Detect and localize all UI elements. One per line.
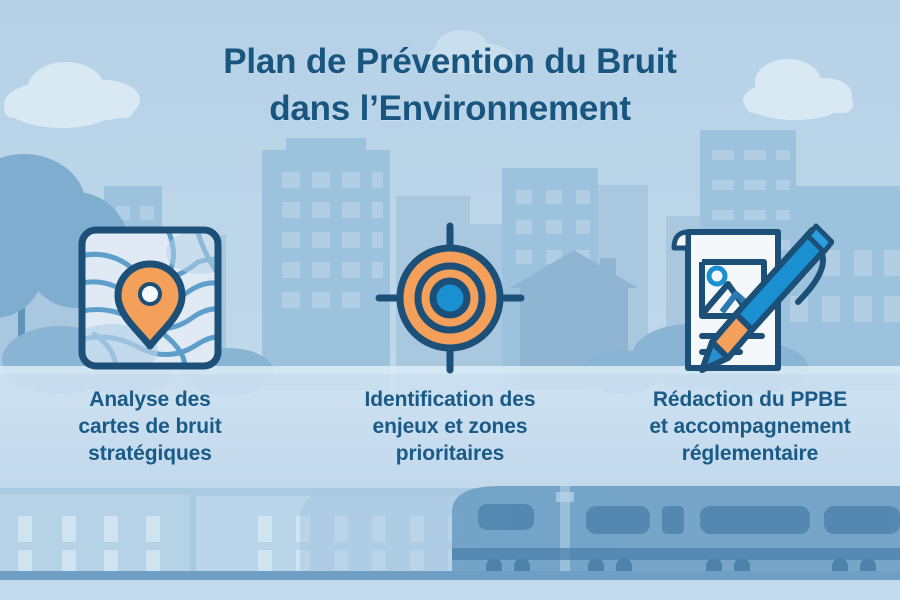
rail-line bbox=[0, 571, 900, 580]
caption-step-1: Analyse des cartes de bruit stratégiques bbox=[0, 386, 300, 496]
caption-line: stratégiques bbox=[8, 440, 292, 467]
infographic-poster: Plan de Prévention du Bruit dans l’Envir… bbox=[0, 0, 900, 600]
document-pen-icon bbox=[666, 220, 834, 376]
target-center bbox=[433, 281, 467, 315]
icons-row bbox=[0, 218, 900, 378]
train-silhouette bbox=[452, 486, 900, 578]
icon-slot-2 bbox=[300, 218, 600, 378]
caption-line: Identification des bbox=[308, 386, 592, 413]
caption-line: prioritaires bbox=[308, 440, 592, 467]
foreground-band bbox=[0, 580, 900, 600]
caption-step-2: Identification des enjeux et zones prior… bbox=[300, 386, 600, 496]
icon-slot-3 bbox=[600, 218, 900, 378]
map-pin-icon bbox=[72, 222, 228, 374]
caption-line: Rédaction du PPBE bbox=[608, 386, 892, 413]
target-crosshair-icon bbox=[375, 222, 525, 374]
caption-line: et accompagnement bbox=[608, 413, 892, 440]
icon-slot-1 bbox=[0, 218, 300, 378]
captions-row: Analyse des cartes de bruit stratégiques… bbox=[0, 386, 900, 496]
caption-line: Analyse des bbox=[8, 386, 292, 413]
caption-line: cartes de bruit bbox=[8, 413, 292, 440]
caption-line: réglementaire bbox=[608, 440, 892, 467]
caption-step-3: Rédaction du PPBE et accompagnement régl… bbox=[600, 386, 900, 496]
caption-line: enjeux et zones bbox=[308, 413, 592, 440]
